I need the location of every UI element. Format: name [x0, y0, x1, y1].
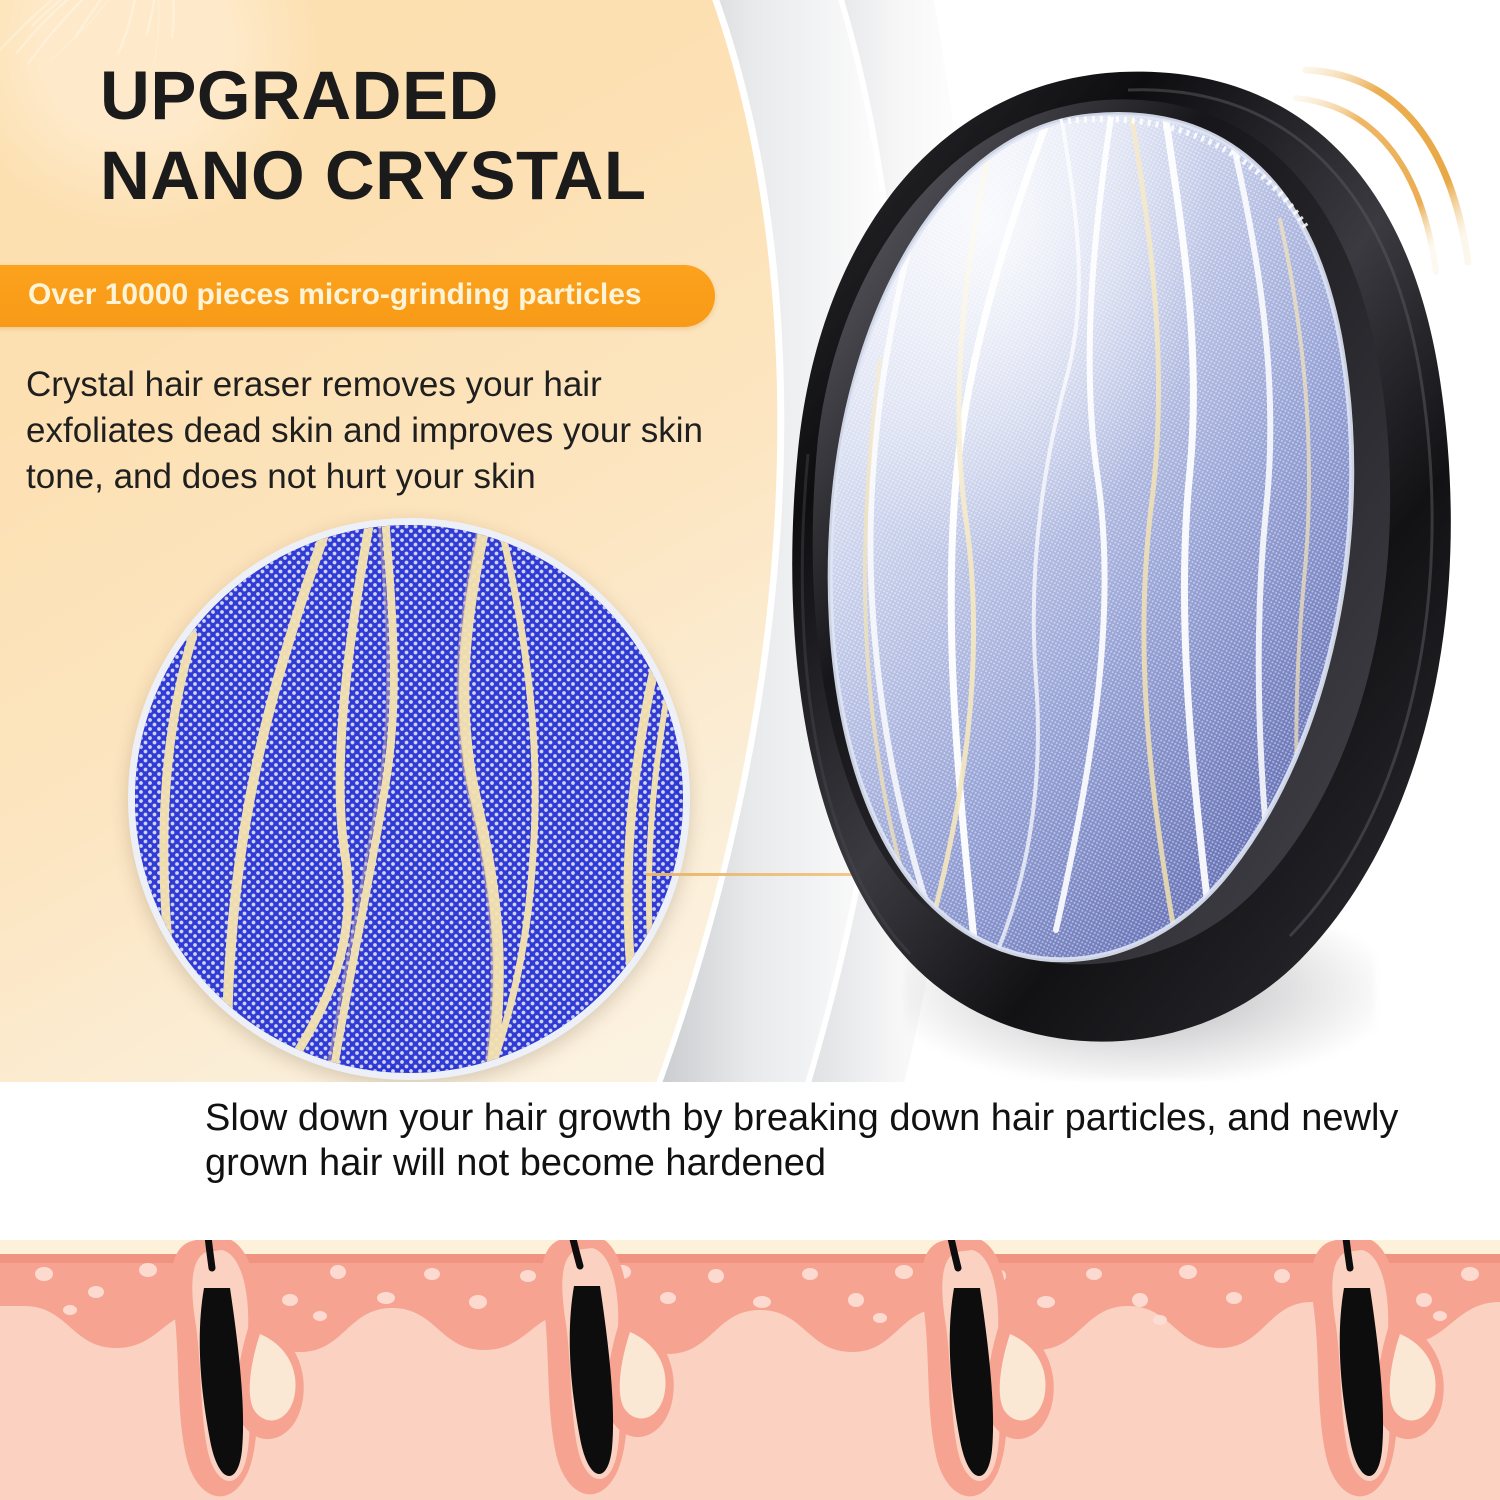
headline-line-2: NANO CRYSTAL [100, 142, 800, 210]
feature-banner: Over 10000 pieces micro-grinding particl… [0, 265, 715, 327]
motion-swoosh-lines [1270, 40, 1500, 330]
hair-follicles [0, 1240, 1500, 1500]
crystal-gold-lines [135, 525, 683, 1073]
feature-banner-label: Over 10000 pieces micro-grinding particl… [28, 265, 642, 327]
follicle-group-1 [172, 1240, 304, 1496]
follicle-group-4 [1312, 1240, 1444, 1496]
follicle-group-3 [903, 1240, 1054, 1496]
product-infographic: UPGRADED NANO CRYSTAL Over 10000 pieces … [0, 0, 1500, 1500]
page-title: UPGRADED NANO CRYSTAL [100, 62, 800, 209]
magnified-crystal-circle [128, 518, 690, 1080]
body-copy: Crystal hair eraser removes your hair ex… [26, 362, 706, 501]
top-panel: UPGRADED NANO CRYSTAL Over 10000 pieces … [0, 0, 1500, 1082]
headline-line-1: UPGRADED [100, 57, 499, 134]
bottom-caption: Slow down your hair growth by breaking d… [205, 1096, 1435, 1186]
skin-cross-section-diagram [0, 1240, 1500, 1500]
caption-band: Slow down your hair growth by breaking d… [0, 1082, 1500, 1257]
follicle-group-2 [508, 1240, 674, 1494]
